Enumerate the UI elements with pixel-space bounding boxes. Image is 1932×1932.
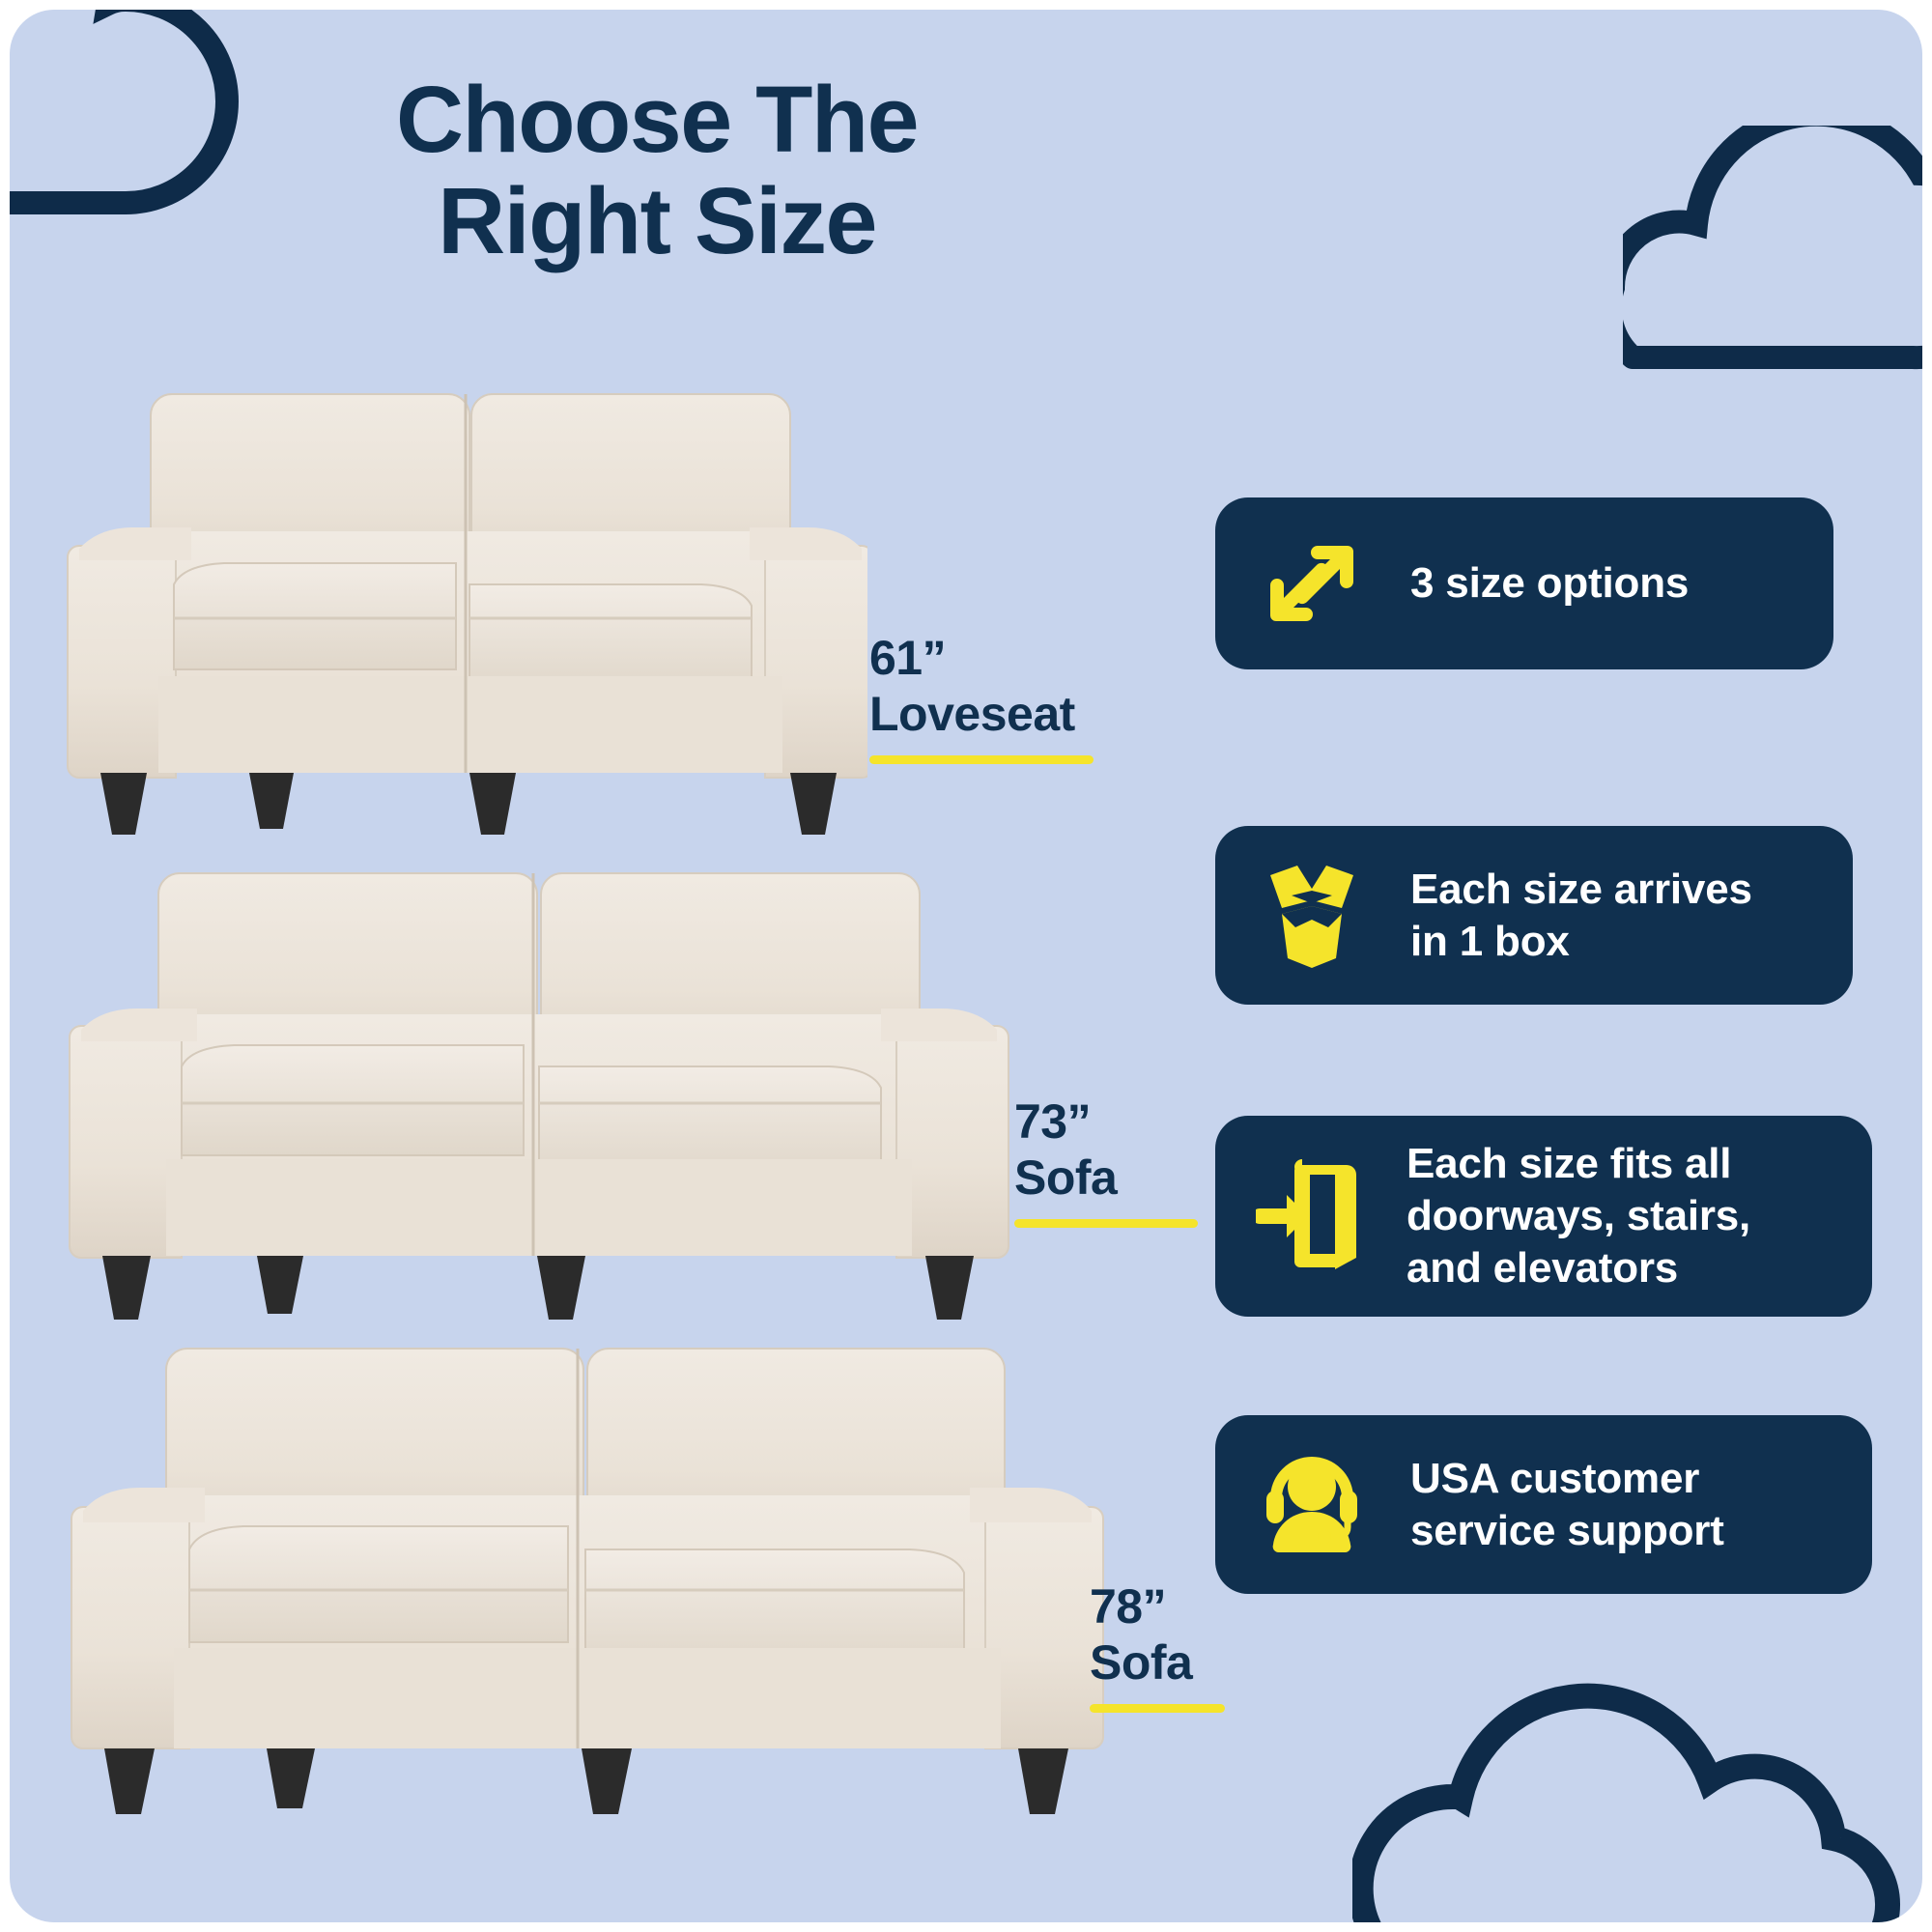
size-label-loveseat-61: 61” Loveseat (869, 630, 1101, 764)
size-label-sofa-73: 73” Sofa (1014, 1094, 1207, 1228)
feature-card-label: Each size arrives in 1 box (1410, 864, 1752, 967)
infographic-canvas: Choose The Right Size (0, 0, 1932, 1932)
product-image-loveseat-61 (66, 386, 867, 840)
feature-card-one-box[interactable]: Each size arrives in 1 box (1215, 826, 1853, 1005)
feature-card-size-options[interactable]: 3 size options (1215, 497, 1833, 669)
feature-card-label: 3 size options (1410, 557, 1689, 610)
size-label-text: 61” Loveseat (869, 630, 1101, 742)
cloud-top-right-icon (1623, 126, 1922, 377)
doorway-arrow-icon (1244, 1149, 1379, 1284)
page-title-line-1: Choose The (10, 70, 1304, 171)
size-label-underline (1014, 1219, 1198, 1228)
page-title-line-2: Right Size (10, 171, 1304, 272)
page-title: Choose The Right Size (10, 70, 1304, 272)
size-label-underline (1090, 1704, 1225, 1713)
feature-card-usa-support[interactable]: USA customer service support (1215, 1415, 1872, 1594)
size-label-underline (869, 755, 1094, 764)
product-image-sofa-73 (66, 860, 1012, 1323)
headset-agent-icon (1248, 1441, 1376, 1569)
size-label-sofa-78: 78” Sofa (1090, 1578, 1283, 1713)
cloud-bottom-right-icon (1352, 1642, 1922, 1922)
size-label-text: 78” Sofa (1090, 1578, 1283, 1690)
size-label-text: 73” Sofa (1014, 1094, 1207, 1206)
resize-arrows-icon (1248, 520, 1376, 647)
product-image-sofa-78 (66, 1333, 1109, 1816)
feature-card-label: Each size fits all doorways, stairs, and… (1406, 1138, 1750, 1293)
open-box-icon (1248, 852, 1376, 980)
infographic-panel: Choose The Right Size (10, 10, 1922, 1922)
feature-card-label: USA customer service support (1410, 1453, 1724, 1556)
feature-card-fits-doorways[interactable]: Each size fits all doorways, stairs, and… (1215, 1116, 1872, 1317)
